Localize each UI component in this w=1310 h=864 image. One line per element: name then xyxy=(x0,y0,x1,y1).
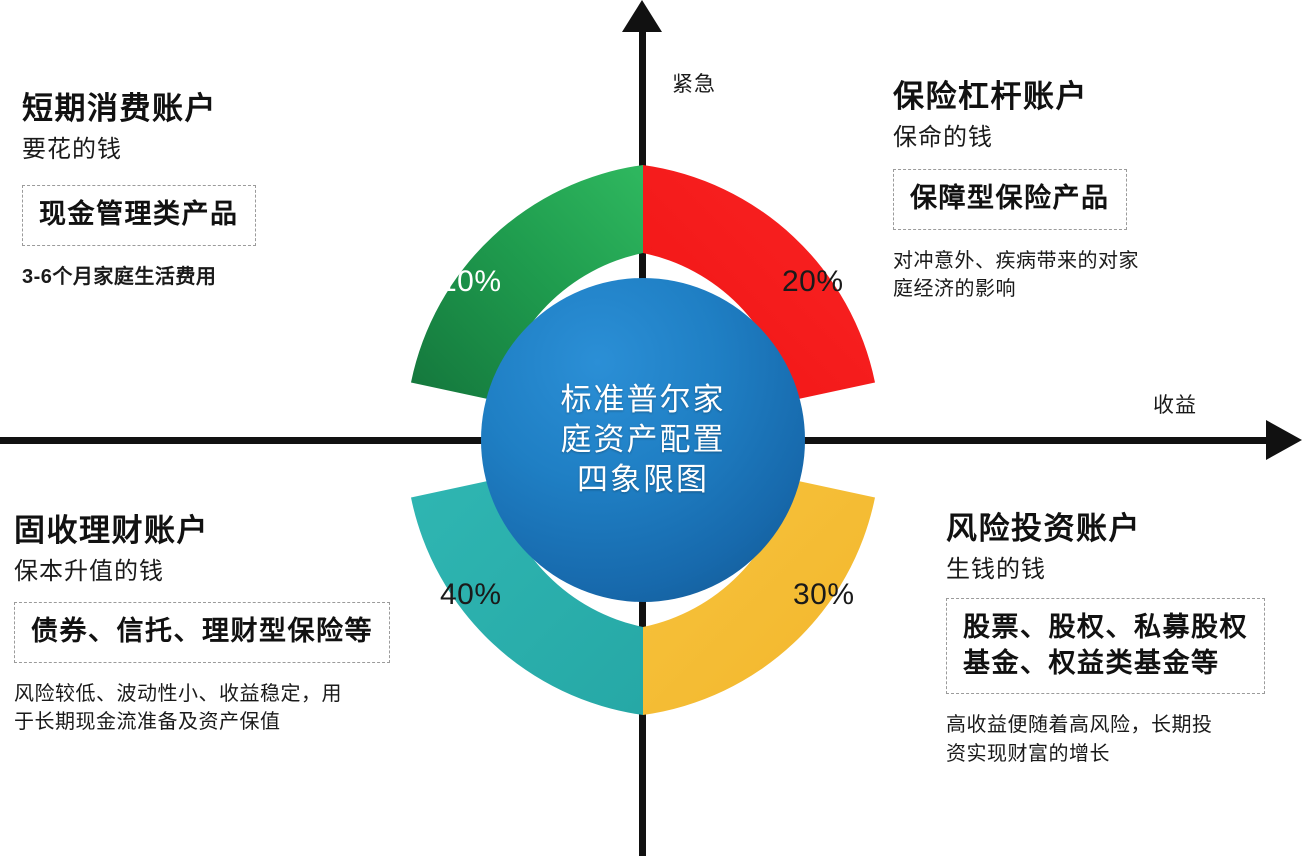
quadrant-title-insurance: 保险杠杆账户 xyxy=(893,78,1139,116)
quadrant-note-short-term: 3-6个月家庭生活费用 xyxy=(22,263,256,291)
quadrant-note-risk-investment: 高收益便随着高风险，长期投 资实现财富的增长 xyxy=(946,711,1265,768)
quadrant-box-text-insurance: 保障型保险产品 xyxy=(910,181,1110,217)
quadrant-fixed-income: 固收理财账户 保本升值的钱 债券、信托、理财型保险等 风险较低、波动性小、收益稳… xyxy=(14,512,390,736)
quadrant-short-term-consumption: 短期消费账户 要花的钱 现金管理类产品 3-6个月家庭生活费用 xyxy=(22,90,256,291)
quadrant-subtitle-fixed-income: 保本升值的钱 xyxy=(14,556,390,587)
quadrant-subtitle-short-term: 要花的钱 xyxy=(22,134,256,165)
quadrant-title-risk-investment: 风险投资账户 xyxy=(946,510,1265,548)
quadrant-box-fixed-income: 债券、信托、理财型保险等 xyxy=(14,602,390,663)
quadrant-title-short-term: 短期消费账户 xyxy=(22,90,256,128)
quadrant-box-text-short-term: 现金管理类产品 xyxy=(39,197,239,233)
quadrant-box-text-fixed-income: 债券、信托、理财型保险等 xyxy=(31,614,373,650)
quadrant-box-risk-investment: 股票、股权、私募股权 基金、权益类基金等 xyxy=(946,598,1265,694)
center-circle: 标准普尔家 庭资产配置 四象限图 xyxy=(481,278,805,602)
percent-label-fixed-income: 40% xyxy=(440,578,502,612)
percent-label-risk-investment: 30% xyxy=(793,578,855,612)
quadrant-diagram: 紧急 收益 xyxy=(0,0,1310,864)
quadrant-title-fixed-income: 固收理财账户 xyxy=(14,512,390,550)
quadrant-insurance-leverage: 保险杠杆账户 保命的钱 保障型保险产品 对冲意外、疾病带来的对家 庭经济的影响 xyxy=(893,78,1139,303)
quadrant-note-insurance: 对冲意外、疾病带来的对家 庭经济的影响 xyxy=(893,247,1139,304)
percent-label-insurance: 20% xyxy=(782,265,844,299)
center-title-line-3: 四象限图 xyxy=(577,460,709,500)
quadrant-subtitle-insurance: 保命的钱 xyxy=(893,122,1139,153)
center-title-line-2: 庭资产配置 xyxy=(561,420,726,460)
center-title-line-1: 标准普尔家 xyxy=(561,380,726,420)
quadrant-subtitle-risk-investment: 生钱的钱 xyxy=(946,554,1265,585)
quadrant-box-insurance: 保障型保险产品 xyxy=(893,169,1127,230)
quadrant-risk-investment: 风险投资账户 生钱的钱 股票、股权、私募股权 基金、权益类基金等 高收益便随着高… xyxy=(946,510,1265,768)
quadrant-box-text-risk-investment: 股票、股权、私募股权 基金、权益类基金等 xyxy=(963,610,1248,681)
percent-label-short-term: 10% xyxy=(440,265,502,299)
quadrant-box-short-term: 现金管理类产品 xyxy=(22,185,256,246)
quadrant-note-fixed-income: 风险较低、波动性小、收益稳定，用 于长期现金流准备及资产保值 xyxy=(14,680,390,737)
